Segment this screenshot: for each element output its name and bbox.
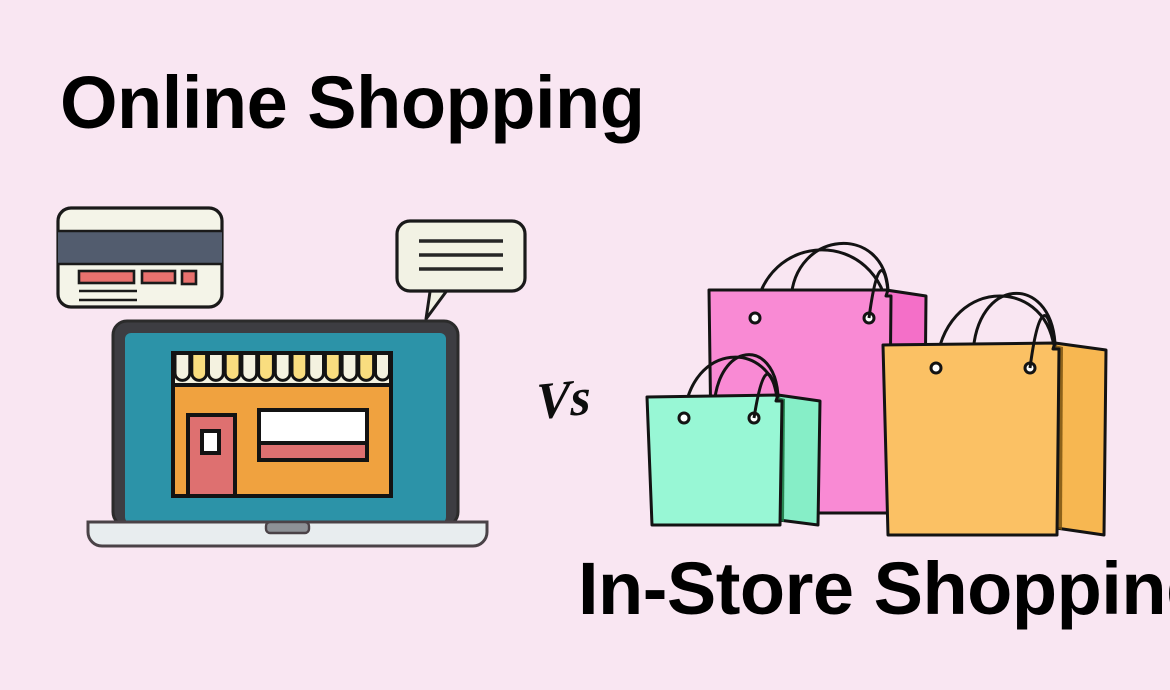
credit-card-illustration (55, 205, 225, 310)
bag-orange-eyelet-left (931, 363, 941, 373)
bag-green-front-panel (647, 395, 782, 525)
page-title-in-store-shopping: In-Store Shopping (578, 552, 1170, 626)
storefront-awning (173, 353, 391, 385)
credit-card-accent-bar-2 (142, 271, 175, 283)
storefront-sign-band (259, 443, 367, 460)
credit-card-accent-bar-1 (79, 271, 134, 283)
laptop-trackpad-notch (266, 522, 309, 533)
page-title-online-shopping: Online Shopping (60, 66, 644, 140)
bag-green-eyelet-left (679, 413, 689, 423)
credit-card-magnetic-stripe (58, 231, 222, 264)
storefront-door-window (202, 431, 219, 453)
versus-label: Vs (536, 371, 591, 429)
laptop-illustration (80, 305, 495, 550)
infographic-canvas: Online Shopping (0, 0, 1170, 690)
credit-card-accent-bar-3 (182, 271, 196, 284)
bag-pink-eyelet-left (750, 313, 760, 323)
storefront-door (188, 415, 235, 496)
shopping-bags-illustration (636, 195, 1136, 545)
storefront-graphic (173, 353, 391, 496)
